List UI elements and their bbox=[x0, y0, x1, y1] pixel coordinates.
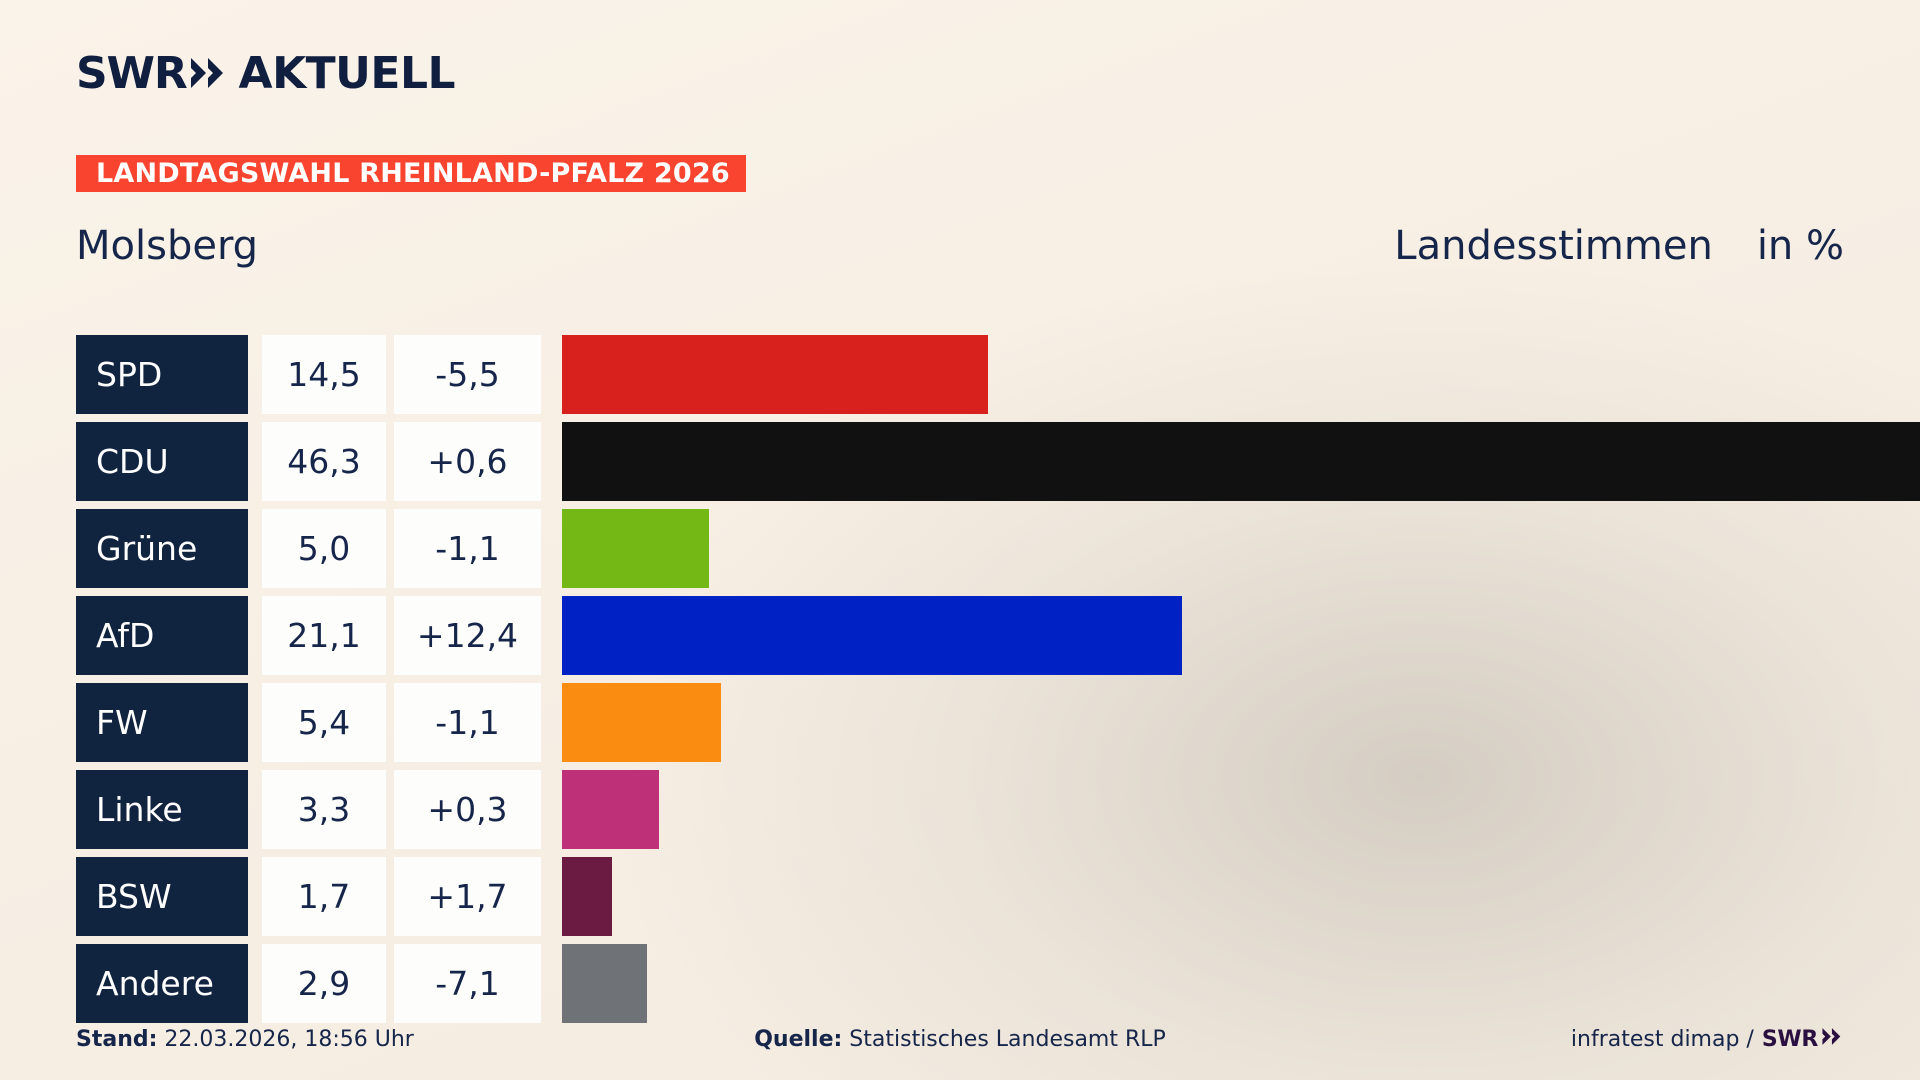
party-label: BSW bbox=[96, 880, 172, 913]
credit-swr-wordmark: SWR bbox=[1762, 1027, 1818, 1052]
result-bar bbox=[562, 509, 709, 588]
brand-header: SWR AKTUELL bbox=[76, 48, 455, 100]
result-value: 46,3 bbox=[287, 445, 360, 478]
unit-label: in % bbox=[1757, 226, 1844, 266]
table-row: BSW1,7+1,7 bbox=[76, 854, 1848, 941]
change-value: +12,4 bbox=[417, 619, 518, 652]
election-banner-text: LANDTAGSWAHL RHEINLAND-PFALZ 2026 bbox=[96, 160, 730, 187]
swr-wordmark: SWR bbox=[76, 52, 187, 96]
change-value-cell: -1,1 bbox=[394, 509, 541, 588]
party-label: SPD bbox=[96, 358, 162, 391]
table-row: Grüne5,0-1,1 bbox=[76, 506, 1848, 593]
result-value-cell: 5,0 bbox=[262, 509, 386, 588]
result-bar bbox=[562, 944, 647, 1023]
aktuell-wordmark: AKTUELL bbox=[239, 52, 456, 96]
result-value: 21,1 bbox=[287, 619, 360, 652]
table-row: Andere2,9-7,1 bbox=[76, 941, 1848, 1028]
double-chevron-right-icon bbox=[1821, 1027, 1844, 1052]
stand-info: Stand: 22.03.2026, 18:56 Uhr bbox=[76, 1027, 414, 1052]
table-row: Linke3,3+0,3 bbox=[76, 767, 1848, 854]
party-label: FW bbox=[96, 706, 148, 739]
change-value-cell: -5,5 bbox=[394, 335, 541, 414]
change-value: -5,5 bbox=[435, 358, 499, 391]
stand-value: 22.03.2026, 18:56 Uhr bbox=[164, 1027, 413, 1052]
credit-info: infratest dimap / SWR bbox=[1571, 1027, 1844, 1052]
table-row: CDU46,3+0,6 bbox=[76, 419, 1848, 506]
result-bar bbox=[562, 596, 1182, 675]
result-value-cell: 5,4 bbox=[262, 683, 386, 762]
table-row: SPD14,5-5,5 bbox=[76, 332, 1848, 419]
double-chevron-right-icon bbox=[189, 56, 229, 93]
election-banner: LANDTAGSWAHL RHEINLAND-PFALZ 2026 bbox=[76, 155, 746, 192]
source-info: Quelle: Statistisches Landesamt RLP bbox=[754, 1027, 1166, 1052]
result-bar bbox=[562, 683, 721, 762]
result-value-cell: 14,5 bbox=[262, 335, 386, 414]
result-value-cell: 21,1 bbox=[262, 596, 386, 675]
vote-type-legend: Landesstimmen in % bbox=[1394, 226, 1844, 266]
quelle-value: Statistisches Landesamt RLP bbox=[849, 1027, 1166, 1052]
credit-text: infratest dimap / bbox=[1571, 1027, 1754, 1052]
party-name-cell: Linke bbox=[76, 770, 248, 849]
result-value-cell: 3,3 bbox=[262, 770, 386, 849]
change-value: +0,6 bbox=[427, 445, 507, 478]
result-value: 5,4 bbox=[298, 706, 350, 739]
result-bar bbox=[562, 335, 988, 414]
party-label: AfD bbox=[96, 619, 154, 652]
change-value-cell: +0,3 bbox=[394, 770, 541, 849]
place-name: Molsberg bbox=[76, 226, 258, 266]
swr-aktuell-logo: SWR AKTUELL bbox=[76, 48, 455, 100]
change-value: -1,1 bbox=[435, 706, 499, 739]
result-value-cell: 46,3 bbox=[262, 422, 386, 501]
result-value-cell: 1,7 bbox=[262, 857, 386, 936]
change-value-cell: -7,1 bbox=[394, 944, 541, 1023]
result-value: 14,5 bbox=[287, 358, 360, 391]
table-row: AfD21,1+12,4 bbox=[76, 593, 1848, 680]
change-value-cell: +1,7 bbox=[394, 857, 541, 936]
party-name-cell: BSW bbox=[76, 857, 248, 936]
table-row: FW5,4-1,1 bbox=[76, 680, 1848, 767]
change-value-cell: +0,6 bbox=[394, 422, 541, 501]
party-name-cell: CDU bbox=[76, 422, 248, 501]
result-value: 3,3 bbox=[298, 793, 350, 826]
quelle-label: Quelle: bbox=[754, 1027, 842, 1052]
party-name-cell: FW bbox=[76, 683, 248, 762]
results-table: SPD14,5-5,5CDU46,3+0,6Grüne5,0-1,1AfD21,… bbox=[76, 332, 1848, 1028]
party-name-cell: SPD bbox=[76, 335, 248, 414]
result-value: 1,7 bbox=[298, 880, 350, 913]
party-name-cell: Grüne bbox=[76, 509, 248, 588]
change-value: -1,1 bbox=[435, 532, 499, 565]
result-bar bbox=[562, 770, 659, 849]
result-value: 2,9 bbox=[298, 967, 350, 1000]
subtitle-row: Molsberg Landesstimmen in % bbox=[76, 218, 1844, 274]
change-value: +0,3 bbox=[427, 793, 507, 826]
change-value: +1,7 bbox=[427, 880, 507, 913]
party-name-cell: Andere bbox=[76, 944, 248, 1023]
change-value: -7,1 bbox=[435, 967, 499, 1000]
party-label: CDU bbox=[96, 445, 169, 478]
vote-type-label: Landesstimmen bbox=[1394, 226, 1713, 266]
result-bar bbox=[562, 857, 612, 936]
party-name-cell: AfD bbox=[76, 596, 248, 675]
footer: Stand: 22.03.2026, 18:56 Uhr Quelle: Sta… bbox=[76, 1024, 1844, 1054]
party-label: Andere bbox=[96, 967, 214, 1000]
party-label: Linke bbox=[96, 793, 183, 826]
election-result-graphic: SWR AKTUELL LANDTAGSWAHL RHEINLAND-PFALZ… bbox=[0, 0, 1920, 1080]
result-bar bbox=[562, 422, 1920, 501]
change-value-cell: +12,4 bbox=[394, 596, 541, 675]
stand-label: Stand: bbox=[76, 1027, 157, 1052]
change-value-cell: -1,1 bbox=[394, 683, 541, 762]
party-label: Grüne bbox=[96, 532, 197, 565]
result-value: 5,0 bbox=[298, 532, 350, 565]
result-value-cell: 2,9 bbox=[262, 944, 386, 1023]
